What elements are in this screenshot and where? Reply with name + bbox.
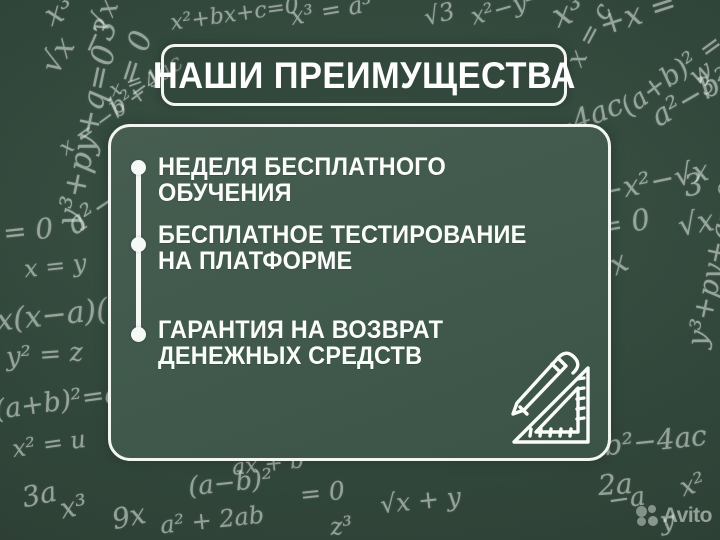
pencil-and-ruler-icon: [500, 348, 596, 452]
chalk-formula: 3: [694, 72, 720, 101]
chalk-formula: y³+py+q=0: [680, 179, 720, 349]
chalk-formula: 3: [86, 14, 126, 46]
timeline-dot-2: [131, 237, 146, 252]
chalk-formula: x²−y²: [467, 0, 539, 31]
chalk-formula: √3: [421, 0, 457, 31]
chalk-formula: a² + 2ab: [159, 501, 266, 540]
chalk-formula: x² = u: [10, 425, 87, 463]
chalk-formula: −√x: [72, 0, 125, 59]
chalk-formula: = 0: [1, 211, 54, 249]
chalk-formula: y² = z: [5, 337, 84, 372]
avito-watermark-label: Avito: [663, 504, 712, 528]
chalk-formula: x²: [676, 467, 709, 503]
chalk-formula: (a−b)²: [187, 464, 274, 503]
timeline-dot-1: [131, 160, 146, 175]
chalk-formula: w: [684, 54, 719, 91]
avito-logo-icon: [636, 505, 658, 527]
timeline-connector: [130, 160, 146, 342]
chalk-formula: −a: [606, 482, 647, 517]
chalk-formula: √x: [675, 203, 717, 244]
benefits-card: НЕДЕЛЯ БЕСПЛАТНОГО ОБУЧЕНИЯ БЕСПЛАТНОЕ Т…: [108, 124, 611, 461]
chalk-formula: +x =: [594, 0, 681, 43]
chalk-formula: x³: [546, 0, 590, 36]
chalk-formula: a²−b²: [645, 61, 720, 134]
chalk-formula: x(x−a)(: [0, 292, 110, 339]
headline-plate: НАШИ ПРЕИМУЩЕСТВА: [161, 44, 567, 106]
chalk-formula: (a+b)² = a² +: [615, 0, 720, 123]
chalk-formula: x³: [57, 488, 90, 526]
chalk-formula: = 0: [299, 476, 347, 510]
benefit-item-2: БЕСПЛАТНОЕ ТЕСТИРОВАНИЕ НА ПЛАТФОРМЕ: [158, 222, 526, 274]
chalk-formula: x = y: [23, 249, 88, 283]
poster-canvas: x³−√x√x3= 0y³+py+q=0x = −b +b²−4aca²−b²=…: [0, 0, 720, 540]
chalk-formula: √x: [34, 31, 83, 80]
benefit-item-1: НЕДЕЛЯ БЕСПЛАТНОГО ОБУЧЕНИЯ: [158, 154, 581, 206]
chalk-formula: z³: [329, 511, 354, 540]
chalk-formula: 3: [681, 167, 706, 205]
chalk-formula: y: [658, 505, 678, 537]
avito-watermark: Avito: [636, 504, 712, 528]
chalk-formula: −x²−√x: [596, 153, 712, 209]
chalk-formula: b²−4ac: [603, 419, 709, 463]
chalk-formula: x³ = a³: [288, 0, 374, 31]
chalk-formula: 2a: [597, 467, 634, 502]
page-title: НАШИ ПРЕИМУЩЕСТВА: [153, 57, 576, 94]
chalk-formula: 3a: [19, 475, 60, 514]
chalk-formula: 9x: [109, 497, 149, 536]
chalk-formula: x²+bx+c=0: [169, 0, 301, 36]
chalk-formula: √x + y: [379, 482, 463, 519]
timeline-dot-3: [131, 327, 146, 342]
benefit-item-3: ГАРАНТИЯ НА ВОЗВРАТ ДЕНЕЖНЫХ СРЕДСТВ: [158, 317, 443, 369]
chalk-formula: x³: [38, 0, 80, 34]
